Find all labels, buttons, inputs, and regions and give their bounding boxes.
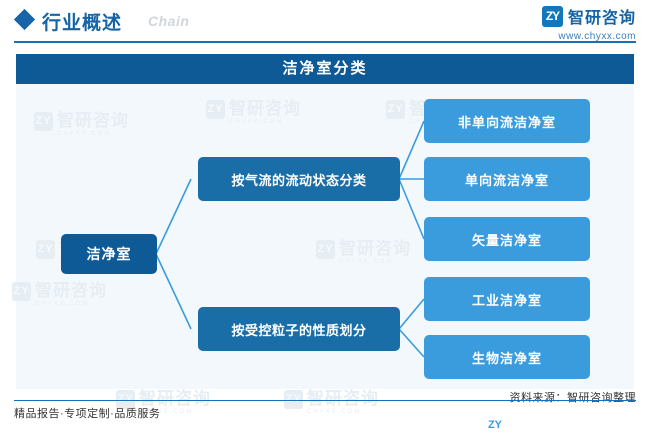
footer-tagline: 精品报告·专项定制·品质服务 [14, 405, 160, 421]
node-leaf-biological[interactable]: 生物洁净室 [424, 335, 590, 379]
source-note: 资料来源：智研咨询整理 [510, 389, 637, 405]
node-leaf-unidirectional[interactable]: 单向流洁净室 [424, 157, 590, 201]
footer-divider [14, 400, 636, 401]
brand-logo: ZY 智研咨询 www.chyxx.com [542, 4, 636, 42]
brand-watermark-text: 智研咨询 [510, 414, 574, 435]
brand-watermark: ZY 智研咨询 [485, 414, 574, 435]
header-divider [14, 41, 636, 43]
page-title: 行业概述 [42, 8, 122, 35]
node-leaf-industrial[interactable]: 工业洁净室 [424, 277, 590, 321]
node-leaf-non-unidirectional[interactable]: 非单向流洁净室 [424, 99, 590, 143]
brand-name: 智研咨询 [568, 4, 636, 28]
page-subtitle: Chain [148, 13, 189, 29]
page-header: 行业概述 Chain ZY 智研咨询 www.chyxx.com [0, 0, 650, 42]
watermark-text: 智研咨询 [307, 389, 379, 408]
brand-mark-icon: ZY [542, 6, 563, 27]
watermark-sub: CHYXX.COM [307, 409, 379, 415]
node-root[interactable]: 洁净室 [61, 234, 157, 274]
diamond-icon [14, 9, 35, 30]
brand-watermark-mark-icon: ZY [485, 415, 505, 435]
node-branch-particle[interactable]: 按受控粒子的性质划分 [198, 307, 400, 351]
diagram-panel: 洁净室分类 ZY智研咨询 CHYXX.COM ZY智研咨询 CHYXX.COM … [16, 54, 634, 389]
node-branch-airflow[interactable]: 按气流的流动状态分类 [198, 157, 400, 201]
node-leaf-vector[interactable]: 矢量洁净室 [424, 217, 590, 261]
